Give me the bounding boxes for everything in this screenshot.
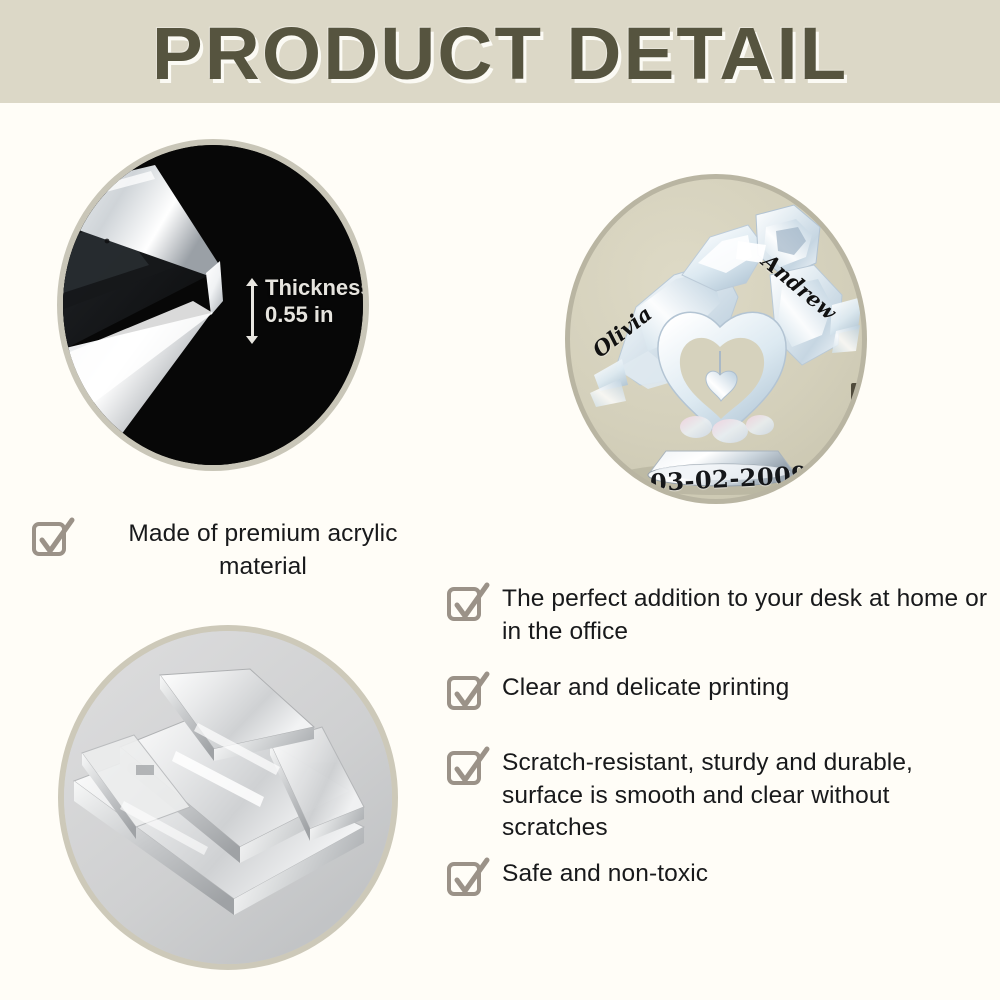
feature-label: Clear and delicate printing bbox=[502, 672, 1000, 705]
feature-item-desk-addition: The perfect addition to your desk at hom… bbox=[447, 583, 1000, 648]
thickness-annotation: Thickness 0.55 in bbox=[245, 275, 369, 344]
thickness-value: 0.55 in bbox=[265, 302, 369, 329]
checked-checkbox-icon bbox=[447, 583, 485, 621]
checked-checkbox-icon bbox=[447, 672, 485, 710]
feature-label: Safe and non-toxic bbox=[502, 858, 1000, 891]
photo-edge-artifact bbox=[851, 383, 860, 409]
feature-label: Made of premium acrylic material bbox=[87, 518, 439, 583]
checked-checkbox-icon bbox=[32, 518, 70, 556]
checked-checkbox-icon bbox=[447, 747, 485, 785]
feature-label: Scratch-resistant, sturdy and durable, s… bbox=[502, 747, 942, 845]
product-photo-crystal-figurine: Olivia Andrew 03-02-2009 bbox=[565, 174, 867, 504]
product-photo-acrylic-edge: Thickness 0.55 in bbox=[57, 139, 369, 471]
feature-item-clear-printing: Clear and delicate printing bbox=[447, 672, 1000, 710]
thickness-annotation-text: Thickness 0.55 in bbox=[265, 275, 369, 329]
product-photo-acrylic-sheets bbox=[58, 625, 398, 970]
feature-item-safe-non-toxic: Safe and non-toxic bbox=[447, 858, 1000, 896]
feature-item-premium-material: Made of premium acrylic material bbox=[32, 518, 452, 583]
thickness-label: Thickness bbox=[265, 275, 369, 302]
feature-label: The perfect addition to your desk at hom… bbox=[502, 583, 1000, 648]
double-arrow-icon bbox=[245, 278, 259, 344]
acrylic-sheets-illustration bbox=[64, 631, 394, 966]
feature-item-scratch-resistant: Scratch-resistant, sturdy and durable, s… bbox=[447, 747, 942, 845]
page-header-band: PRODUCT DETAIL bbox=[0, 0, 1000, 103]
checked-checkbox-icon bbox=[447, 858, 485, 896]
page-title: PRODUCT DETAIL bbox=[152, 17, 848, 91]
